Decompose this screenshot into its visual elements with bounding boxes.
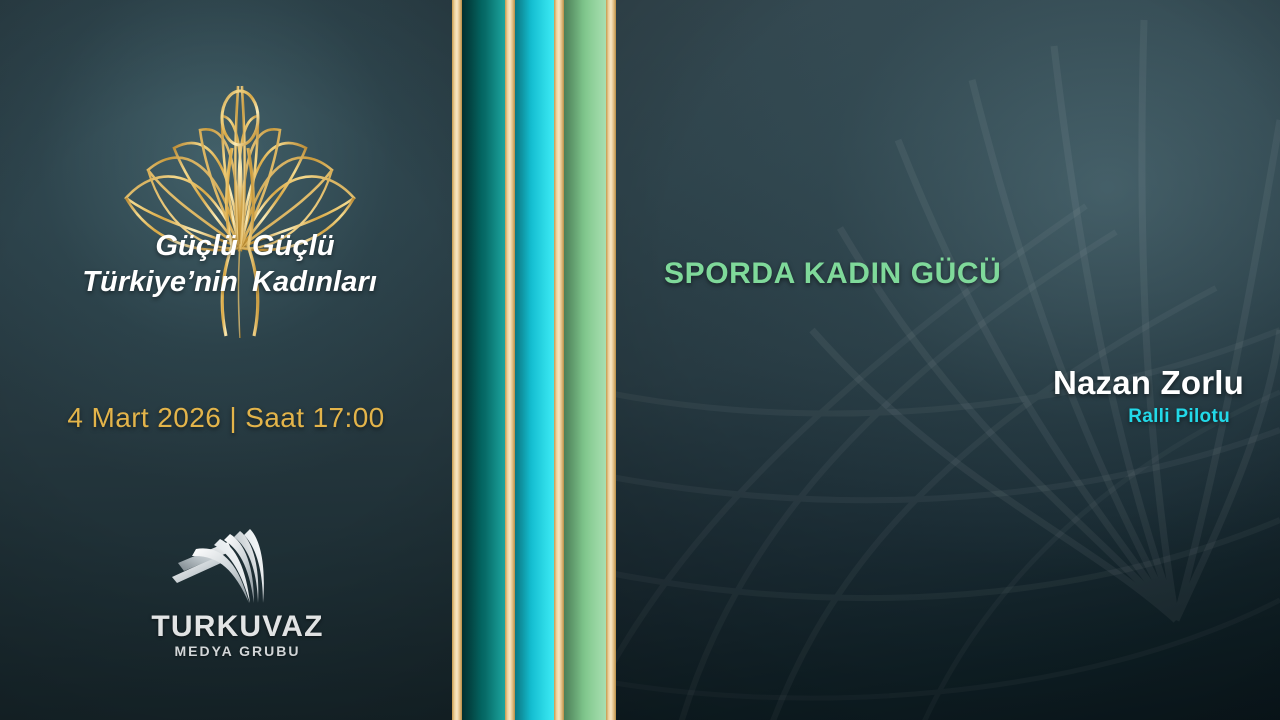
stripe-cyan — [515, 0, 554, 720]
event-date-time: 4 Mart 2026 | Saat 17:00 — [0, 402, 452, 434]
speaker-role: Ralli Pilotu — [1053, 404, 1230, 430]
right-session-panel: SPORDA KADIN GÜCÜ Nazan Zorlu Ralli Pilo… — [616, 0, 1280, 720]
turkuvaz-name: TURKUVAZ — [150, 612, 325, 642]
wordmark-line2-right: Kadınları — [252, 264, 377, 300]
speaker-name: Nazan Zorlu — [1053, 364, 1244, 402]
stripe-gold-4 — [606, 0, 616, 720]
turkuvaz-subtitle: MEDYA GRUBU — [150, 643, 325, 659]
color-stripe-band — [452, 0, 616, 720]
stripe-green — [564, 0, 606, 720]
turkuvaz-fanned-pages-icon — [150, 525, 325, 610]
stripe-teal — [462, 0, 505, 720]
wordmark-line1-right: Güçlü — [252, 228, 377, 264]
wordmark-line1-left: Güçlü — [70, 228, 238, 264]
left-brand-panel: Güçlü Türkiye’nin Güçlü Kadınları 4 Mart… — [0, 0, 452, 720]
brand-wordmark: Güçlü Türkiye’nin Güçlü Kadınları — [70, 226, 390, 312]
wordmark-line2-left: Türkiye’nin — [70, 264, 238, 300]
background-wing-watermark — [616, 0, 1280, 720]
session-title: SPORDA KADIN GÜCÜ — [664, 257, 1001, 291]
stripe-gold-2 — [505, 0, 515, 720]
turkuvaz-sponsor-logo: TURKUVAZ MEDYA GRUBU — [150, 525, 325, 665]
stripe-gold-1 — [452, 0, 462, 720]
speaker-block: Nazan Zorlu Ralli Pilotu — [1053, 364, 1244, 430]
stripe-gold-3 — [554, 0, 564, 720]
event-banner: Güçlü Türkiye’nin Güçlü Kadınları 4 Mart… — [0, 0, 1280, 720]
